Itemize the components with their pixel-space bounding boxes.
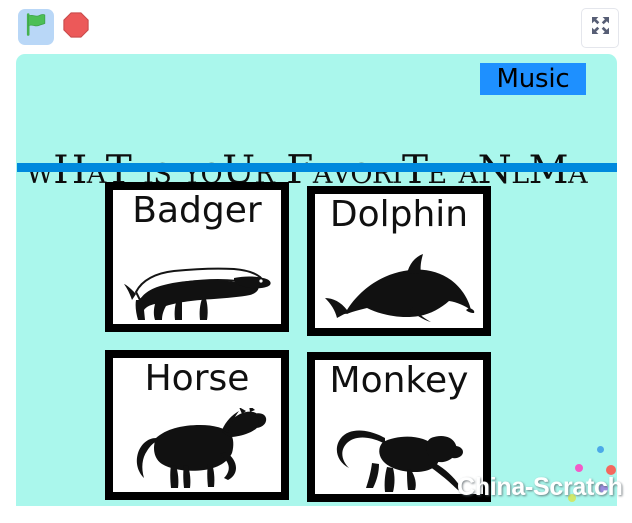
stop-button[interactable] <box>60 11 92 43</box>
choice-card-label: Dolphin <box>315 196 483 234</box>
stage-controls-bar <box>0 0 632 54</box>
horse-silhouette-icon <box>113 398 281 490</box>
badger-silhouette-icon <box>113 230 281 322</box>
music-label-text: Music <box>497 66 570 92</box>
fullscreen-button[interactable] <box>581 8 619 48</box>
choice-card-badger[interactable]: Badger <box>105 182 289 332</box>
green-flag-icon <box>25 13 47 41</box>
confetti-dot <box>575 464 583 472</box>
fullscreen-expand-icon <box>591 16 610 40</box>
choice-card-label: Badger <box>113 192 281 230</box>
green-flag-button[interactable] <box>18 9 54 45</box>
blue-divider-bar <box>17 163 617 172</box>
choice-card-label: Horse <box>113 360 281 398</box>
confetti-dot <box>597 446 604 453</box>
choice-card-horse[interactable]: Horse <box>105 350 289 500</box>
music-label[interactable]: Music <box>480 63 586 95</box>
dolphin-silhouette-icon <box>315 234 483 326</box>
choice-card-label: Monkey <box>315 362 483 400</box>
scratch-stage[interactable]: Music wHαT ιs yoUr FαvorιTe αΝlMα Badger <box>16 54 617 506</box>
watermark-text: China-Scratch <box>457 473 623 502</box>
choice-card-dolphin[interactable]: Dolphin <box>307 186 491 336</box>
stop-sign-icon <box>63 12 89 43</box>
